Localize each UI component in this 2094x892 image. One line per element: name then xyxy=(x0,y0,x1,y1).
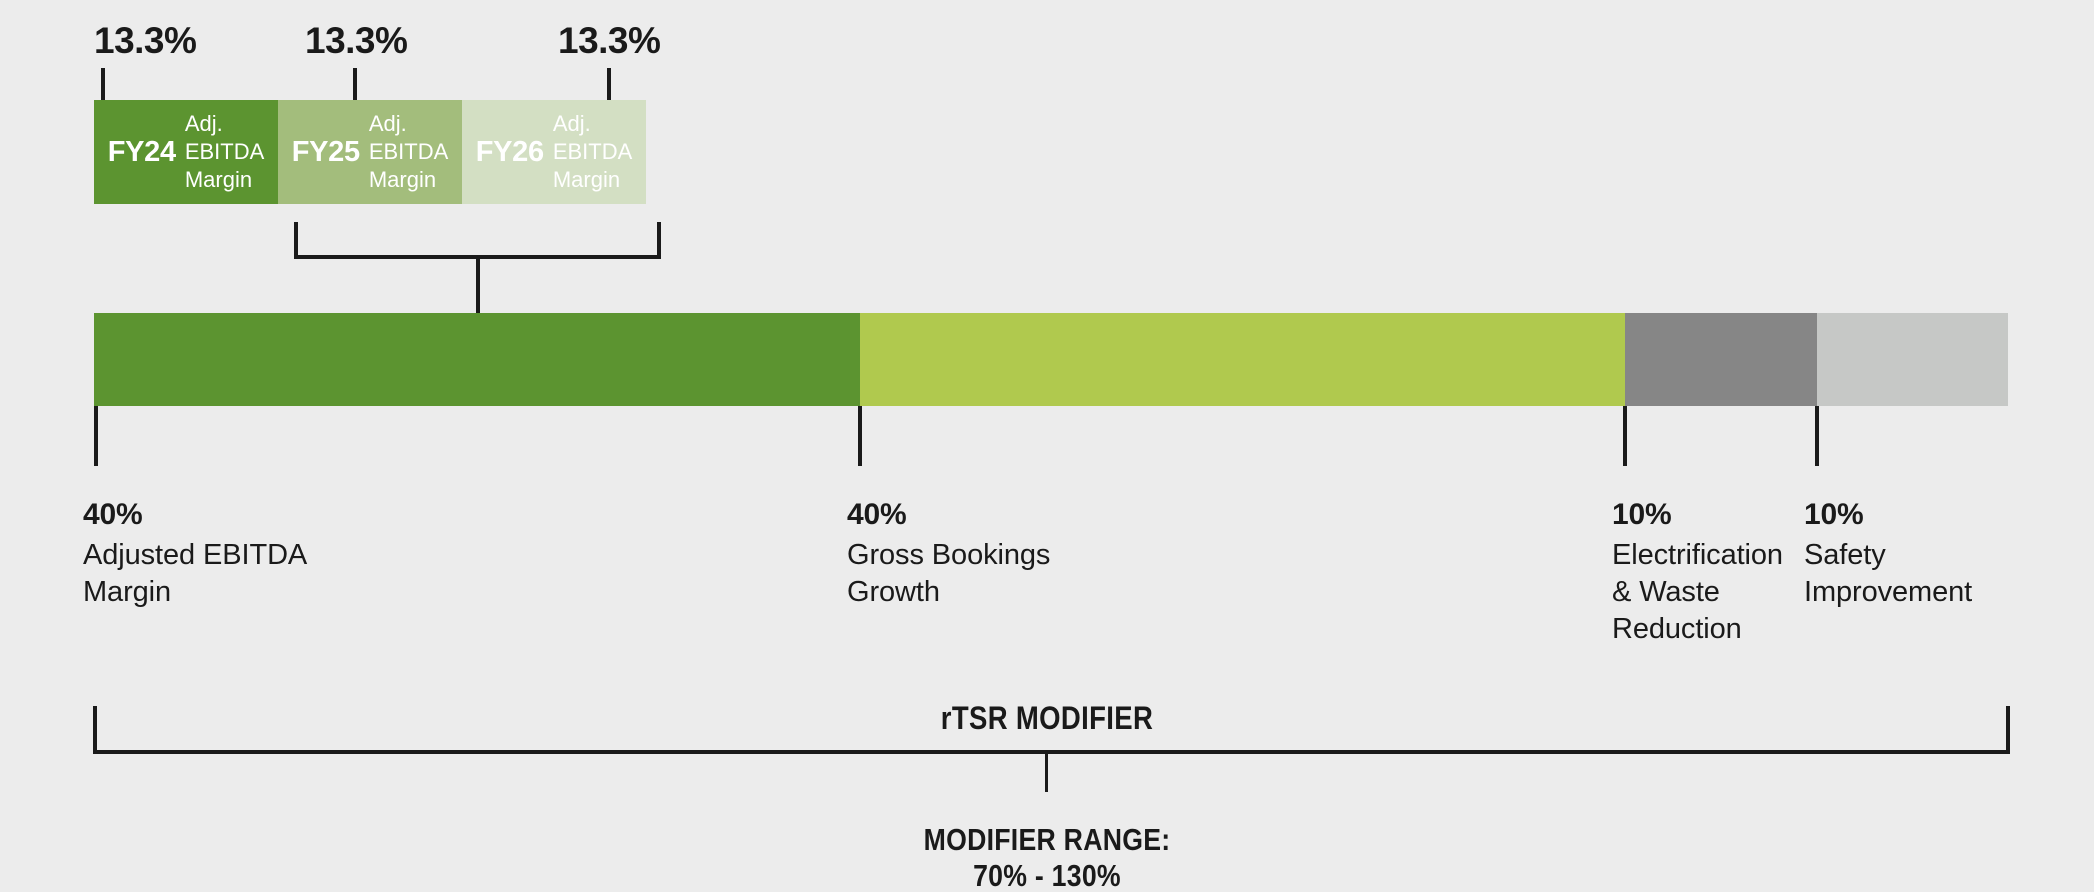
safety-label-tick xyxy=(1815,406,1819,466)
label-name-ebitda: Adjusted EBITDA Margin xyxy=(83,537,503,611)
rtsr-bracket-horizontal xyxy=(93,750,2010,754)
electrification-label-tick xyxy=(1623,406,1627,466)
bookings-label-tick xyxy=(858,406,862,466)
label-pct-bookings: 40% xyxy=(847,498,1267,532)
connector-left-riser xyxy=(294,222,298,259)
fy25-metric-label: Adj.EBITDAMargin xyxy=(369,110,448,193)
fy25-segment[interactable]: FY25 Adj.EBITDAMargin xyxy=(278,100,462,204)
modifier-range-value: 70% - 130% xyxy=(147,858,1948,892)
infographic-canvas: 13.3% 13.3% 13.3% FY24 Adj.EBITDAMargin … xyxy=(0,0,2094,892)
segment-safety-improvement[interactable] xyxy=(1817,313,2008,406)
fy24-metric-label: Adj.EBITDAMargin xyxy=(185,110,264,193)
label-pct-safety: 10% xyxy=(1804,498,2094,532)
fy26-year-label: FY26 xyxy=(476,136,544,169)
segment-electrification-waste-reduction[interactable] xyxy=(1625,313,1816,406)
fy24-tick xyxy=(101,68,105,100)
fy24-segment[interactable]: FY24 Adj.EBITDAMargin xyxy=(94,100,278,204)
fy26-segment[interactable]: FY26 Adj.EBITDAMargin xyxy=(462,100,646,204)
rtsr-bracket-left xyxy=(93,706,97,754)
fy25-year-label: FY25 xyxy=(292,136,360,169)
rtsr-bracket-right xyxy=(2006,706,2010,754)
fy26-metric-label: Adj.EBITDAMargin xyxy=(553,110,632,193)
label-name-bookings: Gross Bookings Growth xyxy=(847,537,1267,611)
label-gross-bookings-growth: 40% Gross Bookings Growth xyxy=(847,498,1267,611)
fy25-tick xyxy=(353,68,357,100)
fy26-tick xyxy=(607,68,611,100)
label-name-safety: Safety Improvement xyxy=(1804,537,2094,611)
modifier-range-title: MODIFIER RANGE: xyxy=(147,822,1948,858)
fy24-weight-label: 13.3% xyxy=(94,22,196,59)
connector-right-riser xyxy=(657,222,661,259)
segment-gross-bookings-growth[interactable] xyxy=(860,313,1626,406)
fy25-weight-label: 13.3% xyxy=(305,22,407,59)
label-safety-improvement: 10% Safety Improvement xyxy=(1804,498,2094,611)
label-pct-ebitda: 40% xyxy=(83,498,503,532)
segment-adjusted-ebitda-margin[interactable] xyxy=(94,313,860,406)
label-adjusted-ebitda-margin: 40% Adjusted EBITDA Margin xyxy=(83,498,503,611)
fiscal-year-breakdown-bar: FY24 Adj.EBITDAMargin FY25 Adj.EBITDAMar… xyxy=(94,100,646,204)
rtsr-bracket-drop xyxy=(1045,750,1048,792)
ebitda-label-tick xyxy=(94,406,98,466)
fy24-year-label: FY24 xyxy=(108,136,176,169)
fy26-weight-label: 13.3% xyxy=(558,22,660,59)
connector-drop xyxy=(476,255,480,313)
rtsr-modifier-title: rTSR MODIFIER xyxy=(147,700,1948,737)
metric-weighting-bar xyxy=(94,313,2008,406)
